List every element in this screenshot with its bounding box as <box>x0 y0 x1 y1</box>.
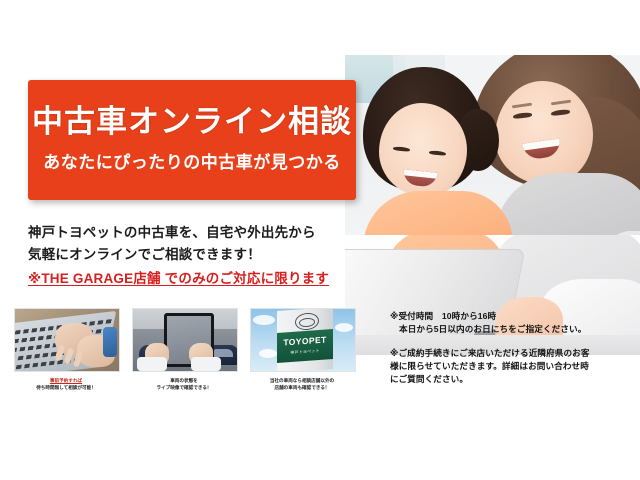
banner-title: 中古車オンライン相談 <box>28 96 356 141</box>
caption-line-2: 待ち時間無して相談が可能！ <box>36 385 96 390</box>
hands-typing-on-laptop-photo <box>14 308 120 372</box>
description-block: 神戸トヨペットの中古車を、自宅や外出先から 気軽にオンラインでご相談できます！ … <box>28 222 348 290</box>
cloud <box>335 323 353 332</box>
feature-cards: 事前予約すれば 待ち時間無して相談が可能！ <box>14 308 358 408</box>
note-eligibility-line-1: ※ご成約手続きにご来店いただける近隣府県のお客 <box>390 347 630 360</box>
note-eligibility-line-2: 様に限らせていただきます。詳細はお問い合わせ時 <box>390 360 630 373</box>
feature-card-other-stores: TOYOPET 神戸トヨペット 当社の車両なら相談店舗以外の 店舗の車両も確認で… <box>250 308 354 391</box>
feature-card-caption: 当社の車両なら相談店舗以外の 店舗の車両も確認できる！ <box>250 377 354 391</box>
artwork-area: 中古車オンライン相談 あなたにぴったりの中古車が見つかる 神戸トヨペットの中古車… <box>0 55 640 415</box>
shirt-cuff-left <box>137 357 167 371</box>
feature-card-reservation: 事前予約すれば 待ち時間無して相談が可能！ <box>14 308 118 391</box>
cloud <box>259 349 277 358</box>
note-eligibility-line-3: にご質問ください。 <box>390 373 630 386</box>
description-warning: ※THE GARAGE店舗 でのみのご対応に限ります <box>28 268 348 290</box>
note-reception-hours: ※受付時間 10時から16時 <box>390 310 630 323</box>
notes-block: ※受付時間 10時から16時 本日から5日以内のお日にちをご指定ください。 ※ご… <box>390 310 630 386</box>
feature-card-caption: 事前予約すれば 待ち時間無して相談が可能！ <box>14 377 118 391</box>
caption-line-2: 店舗の車両も確認できる！ <box>274 385 329 390</box>
blue-garment <box>103 327 117 357</box>
tablet-showing-cars-photo <box>132 308 238 372</box>
headline-banner: 中古車オンライン相談 あなたにぴったりの中古車が見つかる <box>28 80 356 200</box>
feature-card-live-video: 車両の状態を ライブ映像で確認できる！ <box>132 308 236 391</box>
caption-line-1: 事前予約すれば <box>50 378 82 383</box>
car-windshield <box>211 349 233 357</box>
banner-subtitle: あなたにぴったりの中古車が見つかる <box>28 148 356 173</box>
promo-banner-image: 中古車オンライン相談 あなたにぴったりの中古車が見つかる 神戸トヨペットの中古車… <box>0 0 640 480</box>
notes-spacer <box>390 336 630 347</box>
shirt-cuff-right <box>191 357 221 371</box>
caption-line-1: 車両の状態を <box>170 378 198 383</box>
note-booking-window: 本日から5日以内のお日にちをご指定ください。 <box>390 323 630 336</box>
cloud <box>253 315 275 325</box>
woman-face <box>495 81 593 185</box>
toyopet-dealer-sign-photo: TOYOPET 神戸トヨペット <box>250 308 356 372</box>
caption-line-2: ライブ映像で確認できる！ <box>156 385 211 390</box>
caption-line-1: 当社の車両なら相談店舗以外の <box>270 378 334 383</box>
feature-card-caption: 車両の状態を ライブ映像で確認できる！ <box>132 377 236 391</box>
description-line-2: 気軽にオンラインでご相談できます！ <box>28 244 348 266</box>
description-line-1: 神戸トヨペットの中古車を、自宅や外出先から <box>28 222 348 244</box>
